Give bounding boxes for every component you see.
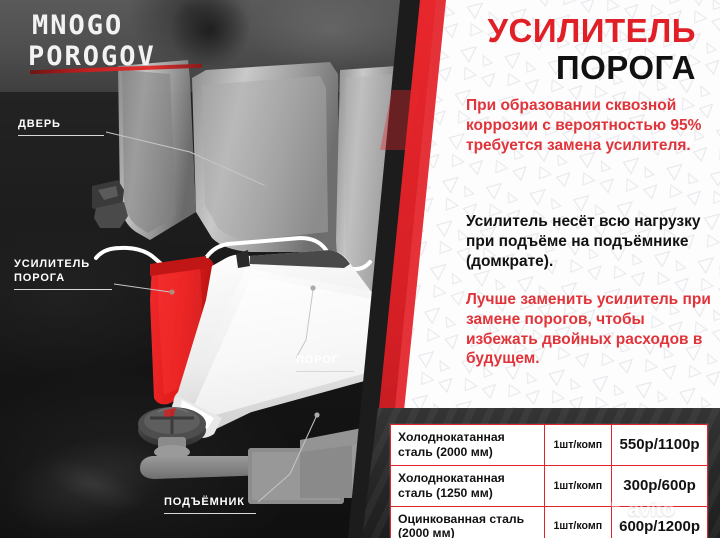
advertisement-banner: ДВЕРЬ УСИЛИТЕЛЬ ПОРОГА ПОРОГ ПОДЪЁМНИК bbox=[0, 0, 720, 538]
callout-lift: ПОДЪЁМНИК bbox=[164, 496, 256, 514]
paragraph-corrosion: При образовании сквозной коррозии с веро… bbox=[466, 96, 716, 155]
callout-lift-label: ПОДЪЁМНИК bbox=[164, 496, 256, 510]
paragraph-load: Усилитель несёт всю нагрузку при подъёме… bbox=[466, 212, 716, 271]
callout-lift-rule bbox=[164, 513, 256, 514]
row-price: 550р/1100р bbox=[612, 425, 708, 466]
brand-logo: MNOGO POROGOV bbox=[28, 12, 208, 74]
price-table: Холоднокатанная сталь (2000 мм) 1шт/комп… bbox=[390, 424, 708, 538]
table-row: Оцинкованная сталь (2000 мм) 1шт/комп 60… bbox=[391, 506, 708, 538]
row-quantity: 1шт/комп bbox=[544, 506, 612, 538]
row-material: Холоднокатанная сталь (2000 мм) bbox=[391, 425, 545, 466]
table-row: Холоднокатанная сталь (1250 мм) 1шт/комп… bbox=[391, 465, 708, 506]
row-price: 600р/1200р bbox=[612, 506, 708, 538]
table-row: Холоднокатанная сталь (2000 мм) 1шт/комп… bbox=[391, 425, 708, 466]
row-material: Оцинкованная сталь (2000 мм) bbox=[391, 506, 545, 538]
row-material: Холоднокатанная сталь (1250 мм) bbox=[391, 465, 545, 506]
paragraph-advice: Лучше заменить усилитель при замене поро… bbox=[466, 290, 716, 369]
row-quantity: 1шт/комп bbox=[544, 425, 612, 466]
row-quantity: 1шт/комп bbox=[544, 465, 612, 506]
row-price: 300р/600р bbox=[612, 465, 708, 506]
brand-logo-line-1: MNOGO bbox=[32, 12, 208, 39]
